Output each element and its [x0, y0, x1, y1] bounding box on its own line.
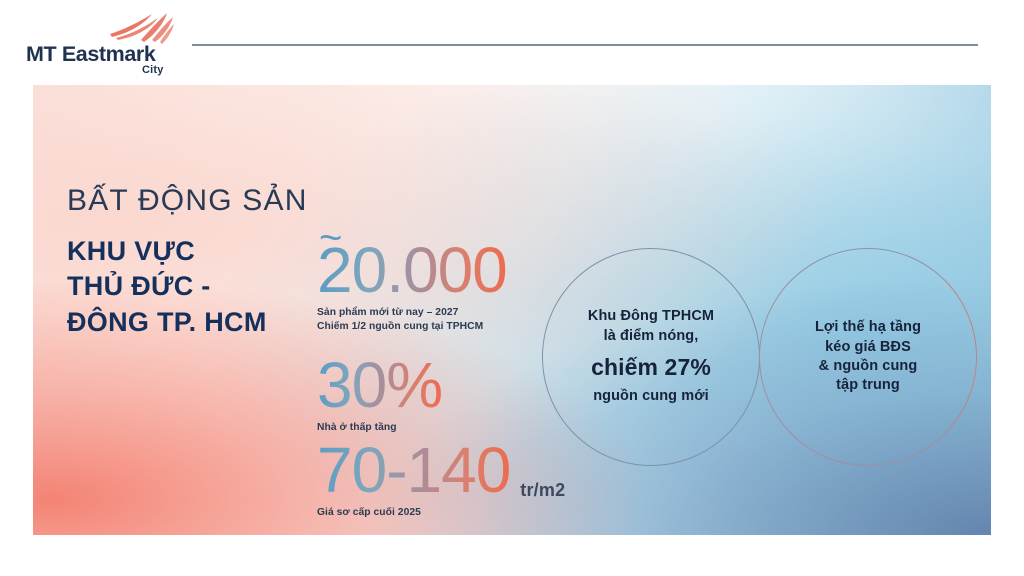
stat-caption-line-1: Giá sơ cấp cuối 2025	[317, 506, 565, 521]
feather-fan-icon	[108, 12, 174, 46]
stat-caption-line-2: Chiếm 1/2 nguồn cung tại TPHCM	[317, 320, 507, 335]
stat-unit: tr/m2	[520, 480, 565, 501]
stat-item: ~ 20.000 Sản phẩm mới từ nay – 2027 Chiế…	[317, 240, 507, 335]
venn-circle-left: Khu Đông TPHCM là điểm nóng, chiếm 27% n…	[542, 248, 760, 466]
stat-item: 70-140 tr/m2 Giá sơ cấp cuối 2025	[317, 440, 565, 520]
stat-item: 30% Nhà ở thấp tầng	[317, 355, 442, 435]
logo-wordmark: MT Eastmark	[26, 42, 155, 67]
circle-left-line-1: Khu Đông TPHCM	[588, 307, 714, 326]
header-divider	[192, 44, 978, 46]
circle-right-line-1: Lợi thế hạ tầng	[815, 318, 921, 337]
stat-caption-line-1: Sản phẩm mới từ nay – 2027	[317, 306, 507, 321]
venn-circle-right: Lợi thế hạ tầng kéo giá BĐS & nguồn cung…	[759, 248, 977, 466]
infographic-card: BẤT ĐỘNG SẢN KHU VỰC THỦ ĐỨC - ĐÔNG TP. …	[33, 85, 991, 535]
brand-logo[interactable]: MT Eastmark City	[26, 12, 176, 74]
stat-prefix-tilde: ~	[319, 218, 342, 258]
circle-right-text: Lợi thế hạ tầng kéo giá BĐS & nguồn cung…	[815, 318, 921, 396]
circle-left-text: Khu Đông TPHCM là điểm nóng, chiếm 27% n…	[588, 307, 714, 406]
stat-value: 70-140	[317, 440, 510, 501]
circle-right-line-3: & nguồn cung	[815, 357, 921, 376]
headline-light: BẤT ĐỘNG SẢN	[67, 185, 367, 217]
logo-subtext: City	[142, 64, 164, 76]
page-header: MT Eastmark City	[0, 0, 1024, 85]
circle-right-line-2: kéo giá BĐS	[815, 338, 921, 357]
stat-value: 30%	[317, 355, 442, 416]
circle-right-line-4: tập trung	[815, 376, 921, 395]
circle-left-highlight: chiếm 27%	[588, 352, 714, 383]
circle-left-line-2: là điểm nóng,	[588, 327, 714, 346]
stat-value: 20.000	[317, 240, 507, 301]
circle-left-line-4: nguồn cung mới	[588, 387, 714, 406]
